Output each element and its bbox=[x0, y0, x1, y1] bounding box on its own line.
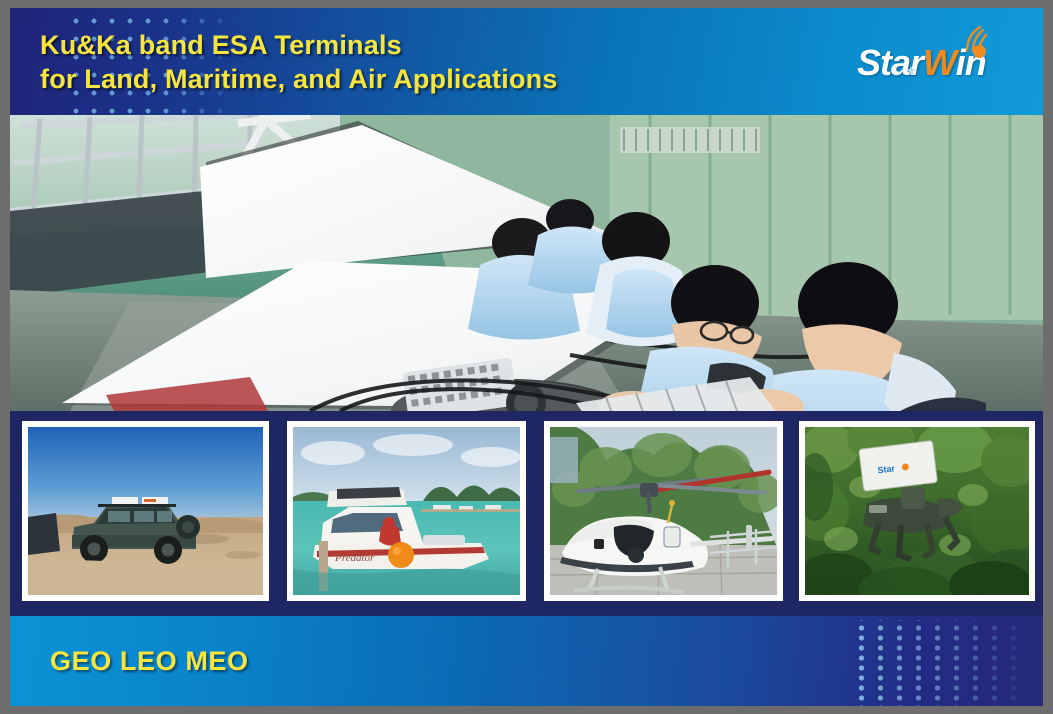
logo-orange-dot-icon bbox=[973, 45, 986, 58]
robot-dog-illustration: Star bbox=[805, 427, 1029, 595]
unmanned-helicopter-illustration bbox=[550, 427, 777, 595]
gallery-thumb-frame: Predator bbox=[293, 427, 520, 595]
gallery-item-robot-dog[interactable]: Star bbox=[799, 421, 1035, 601]
gallery-item-maritime-yacht[interactable]: Predator bbox=[287, 421, 526, 601]
gallery-band: Predator bbox=[10, 411, 1043, 616]
orbit-types-label: GEO LEO MEO bbox=[50, 646, 249, 677]
hero-photo bbox=[10, 115, 1043, 411]
starwin-logo[interactable]: StarWin ★ bbox=[857, 34, 1017, 90]
presentation-slide: Ku&Ka band ESA Terminals for Land, Marit… bbox=[10, 8, 1043, 706]
slide-header: Ku&Ka band ESA Terminals for Land, Marit… bbox=[10, 8, 1043, 115]
land-vehicle-illustration bbox=[28, 427, 263, 595]
slide-outer-frame: Ku&Ka band ESA Terminals for Land, Marit… bbox=[0, 0, 1053, 714]
gallery-thumb-frame: Star bbox=[805, 427, 1029, 595]
slide-title: Ku&Ka band ESA Terminals for Land, Marit… bbox=[40, 28, 740, 96]
svg-text:Predator: Predator bbox=[334, 552, 375, 564]
footer-dot-pattern bbox=[850, 620, 1043, 706]
logo-w-text: W bbox=[923, 42, 956, 83]
hero-photo-illustration bbox=[10, 115, 1043, 411]
maritime-yacht-illustration: Predator bbox=[293, 427, 520, 595]
gallery-thumb-frame bbox=[28, 427, 263, 595]
gallery-item-land-vehicle[interactable] bbox=[22, 421, 269, 601]
title-line-2: for Land, Maritime, and Air Applications bbox=[40, 62, 740, 96]
slide-footer: GEO LEO MEO bbox=[10, 616, 1043, 706]
gallery-thumb-frame bbox=[550, 427, 777, 595]
gallery-item-unmanned-helicopter[interactable] bbox=[544, 421, 783, 601]
star-glyph-icon: ★ bbox=[905, 64, 917, 77]
title-line-1: Ku&Ka band ESA Terminals bbox=[40, 28, 740, 62]
logo-wordmark: StarWin bbox=[857, 42, 986, 84]
